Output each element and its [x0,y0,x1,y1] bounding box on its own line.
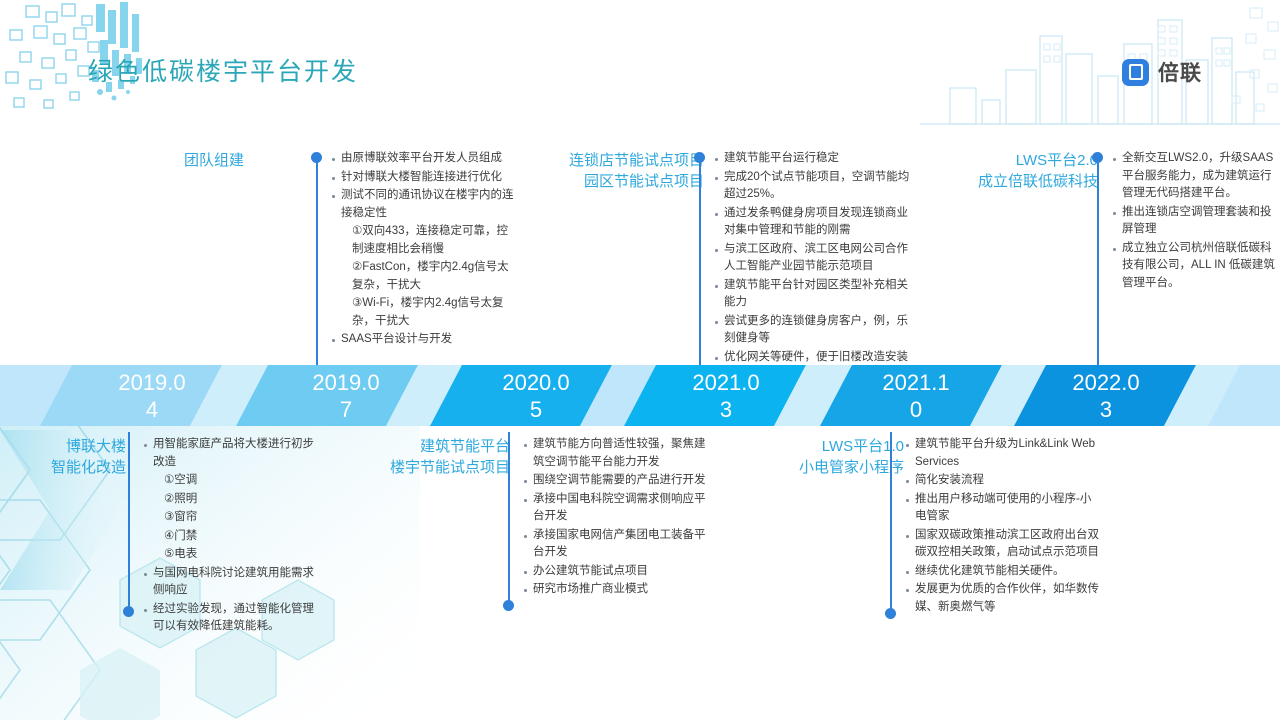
list-item: SAAS平台设计与开发 [330,331,518,349]
list-item: 成立独立公司杭州倍联低碳科技有限公司，ALL IN 低碳建筑管理平台。 [1111,240,1277,293]
list-item: 围绕空调节能需要的产品进行开发 [522,472,712,490]
list-item: 国家双碳政策推动滨工区政府出台双碳双控相关政策，启动试点示范项目 [904,527,1100,562]
list-item: 承接中国电科院空调需求侧响应平台开发 [522,491,712,526]
timeline-rail [316,158,318,370]
brand-name: 倍联 [1158,57,1202,87]
list-item: 推出用户移动端可使用的小程序-小电管家 [904,491,1100,526]
list-item: ①空调 [164,472,318,490]
timeline-entry-bottom-2[interactable]: 建筑节能平台 楼宇节能试点项目 建筑节能方向普适性较强，聚焦建筑空调节能平台能力… [340,432,720,617]
list-item: ③窗帘 [164,509,318,527]
brand-logo: 倍联 [1122,57,1202,87]
timeline-entry-top-3[interactable]: LWS平台2.0 成立倍联低碳科技 全新交互LWS2.0，升级SAAS平台服务能… [940,150,1280,365]
timeline-rail [699,158,701,370]
list-item: ⑤电表 [164,546,318,564]
bullet-list: 建筑节能方向普适性较强，聚焦建筑空调节能平台能力开发 围绕空调节能需要的产品进行… [522,436,712,599]
bullet-list: 用智能家庭产品将大楼进行初步改造 ①空调 ②照明 ③窗帘 ④门禁 ⑤电表 与国网… [142,436,318,636]
timeline-node-dot [885,608,896,619]
list-item: 优化网关等硬件，便于旧楼改造安装 [713,349,913,367]
list-item: 全新交互LWS2.0，升级SAAS平台服务能力，成为建筑运行管理无代码搭建平台。 [1111,150,1277,203]
entry-bullets: 建筑节能平台升级为Link&Link Web Services 简化安装流程 推… [904,436,1100,617]
timeline-band-dates: 2019.0 4 2019.0 7 2020.0 5 2021.0 3 2021… [0,365,1280,426]
list-item: 尝试更多的连锁健身房客户，例，乐刻健身等 [713,313,913,348]
timeline-entry-bottom-1[interactable]: 博联大楼 智能化改造 用智能家庭产品将大楼进行初步改造 ①空调 ②照明 ③窗帘 … [0,432,340,632]
timeline-entry-top-2[interactable]: 连锁店节能试点项目 园区节能试点项目 建筑节能平台运行稳定 完成20个试点节能项… [520,150,940,365]
list-item: 继续优化建筑节能相关硬件。 [904,563,1100,581]
list-item: ②FastCon，楼宇内2.4g信号太复杂，干扰大 [352,259,518,294]
list-item: ②照明 [164,491,318,509]
timeline-rail [508,432,510,604]
page-title: 绿色低碳楼宇平台开发 [88,52,358,88]
entry-heading: 团队组建 [184,150,244,171]
timeline-date-6: 2022.0 3 [1047,369,1165,423]
list-item: ③Wi-Fi，楼宇内2.4g信号太复杂，干扰大 [352,295,518,330]
list-item: ④门禁 [164,528,318,546]
list-item: 办公建筑节能试点项目 [522,563,712,581]
list-item: 与国网电科院讨论建筑用能需求侧响应 [142,565,318,600]
list-item: 由原博联效率平台开发人员组成 [330,150,518,168]
entry-bullets: 全新交互LWS2.0，升级SAAS平台服务能力，成为建筑运行管理无代码搭建平台。… [1111,150,1277,293]
list-item: 经过实验发现，通过智能化管理可以有效降低建筑能耗。 [142,601,318,636]
bullet-list: 由原博联效率平台开发人员组成 针对博联大楼智能连接进行优化 测试不同的通讯协议在… [330,150,518,349]
list-item: 建筑节能平台运行稳定 [713,150,913,168]
header-skyline-decoration [920,0,1280,140]
timeline-rail [1097,158,1099,370]
timeline-date-2: 2019.0 7 [287,369,405,423]
list-item: ①双向433，连接稳定可靠，控制速度相比会稍慢 [352,223,518,258]
list-item: 承接国家电网信产集团电工装备平台开发 [522,527,712,562]
list-item: 推出连锁店空调管理套装和投屏管理 [1111,204,1277,239]
bullet-list: 建筑节能平台升级为Link&Link Web Services 简化安装流程 推… [904,436,1100,616]
list-item: 发展更为优质的合作伙伴，如华数传媒、新奥燃气等 [904,581,1100,616]
timeline-date-1: 2019.0 4 [93,369,211,423]
list-item: 测试不同的通讯协议在楼宇内的连接稳定性 [330,187,518,222]
list-item: 建筑节能平台升级为Link&Link Web Services [904,436,1100,471]
entry-bullets: 建筑节能方向普适性较强，聚焦建筑空调节能平台能力开发 围绕空调节能需要的产品进行… [522,436,712,600]
entry-heading: LWS平台1.0 小电管家小程序 [799,436,904,478]
timeline-rail [890,432,892,612]
entry-heading: 博联大楼 智能化改造 [51,436,126,478]
timeline-rail [128,432,130,610]
entry-heading: 连锁店节能试点项目 园区节能试点项目 [569,150,704,192]
rounded-square-logo-icon [1122,59,1149,86]
timeline-node-dot [123,606,134,617]
list-item: 建筑节能平台针对园区类型补充相关能力 [713,277,913,312]
timeline-date-5: 2021.1 0 [857,369,975,423]
timeline-entry-top-1[interactable]: 团队组建 由原博联效率平台开发人员组成 针对博联大楼智能连接进行优化 测试不同的… [0,150,520,365]
list-item: 研究市场推广商业模式 [522,581,712,599]
list-item: 建筑节能方向普适性较强，聚焦建筑空调节能平台能力开发 [522,436,712,471]
entry-heading: LWS平台2.0 成立倍联低碳科技 [978,150,1098,192]
entry-bullets: 用智能家庭产品将大楼进行初步改造 ①空调 ②照明 ③窗帘 ④门禁 ⑤电表 与国网… [142,436,318,637]
list-item: 通过发条鸭健身房项目发现连锁商业对集中管理和节能的刚需 [713,205,913,240]
bullet-list: 全新交互LWS2.0，升级SAAS平台服务能力，成为建筑运行管理无代码搭建平台。… [1111,150,1277,292]
timeline-date-4: 2021.0 3 [667,369,785,423]
slide-canvas: 绿色低碳楼宇平台开发 倍联 [0,0,1280,720]
list-item: 与滨工区政府、滨工区电网公司合作人工智能产业园节能示范项目 [713,241,913,276]
entry-bullets: 建筑节能平台运行稳定 完成20个试点节能项目，空调节能均超过25%。 通过发条鸭… [713,150,913,367]
bullet-list: 建筑节能平台运行稳定 完成20个试点节能项目，空调节能均超过25%。 通过发条鸭… [713,150,913,366]
list-item: 用智能家庭产品将大楼进行初步改造 [142,436,318,471]
timeline-node-dot [503,600,514,611]
timeline-band: 2019.0 4 2019.0 7 2020.0 5 2021.0 3 2021… [0,365,1280,426]
entry-heading: 建筑节能平台 楼宇节能试点项目 [390,436,510,478]
timeline-entry-bottom-3[interactable]: LWS平台1.0 小电管家小程序 建筑节能平台升级为Link&Link Web … [720,432,1120,627]
entry-bullets: 由原博联效率平台开发人员组成 针对博联大楼智能连接进行优化 测试不同的通讯协议在… [330,150,518,350]
list-item: 简化安装流程 [904,472,1100,490]
timeline-date-3: 2020.0 5 [477,369,595,423]
list-item: 完成20个试点节能项目，空调节能均超过25%。 [713,169,913,204]
list-item: 针对博联大楼智能连接进行优化 [330,169,518,187]
